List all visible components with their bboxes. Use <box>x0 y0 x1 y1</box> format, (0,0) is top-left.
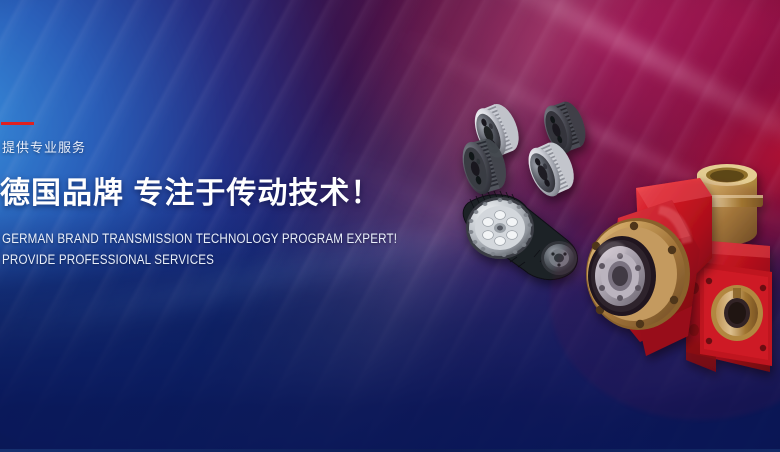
hero-eyebrow: 提供专业服务 <box>2 137 86 156</box>
hero-headline: 德国品牌 专注于传动技术！ <box>0 168 381 212</box>
hero-copy-block: 提供专业服务 德国品牌 专注于传动技术！ GERMAN BRAND TRANSM… <box>0 0 420 452</box>
red-accent-rule <box>1 122 34 125</box>
hero-subtitle-line-2: PROVIDE PROFESSIONAL SERVICES <box>2 252 214 267</box>
hero-subtitle-line-1: GERMAN BRAND TRANSMISSION TECHNOLOGY PRO… <box>2 231 397 246</box>
hero-banner: 提供专业服务 德国品牌 专注于传动技术！ GERMAN BRAND TRANSM… <box>0 0 780 452</box>
